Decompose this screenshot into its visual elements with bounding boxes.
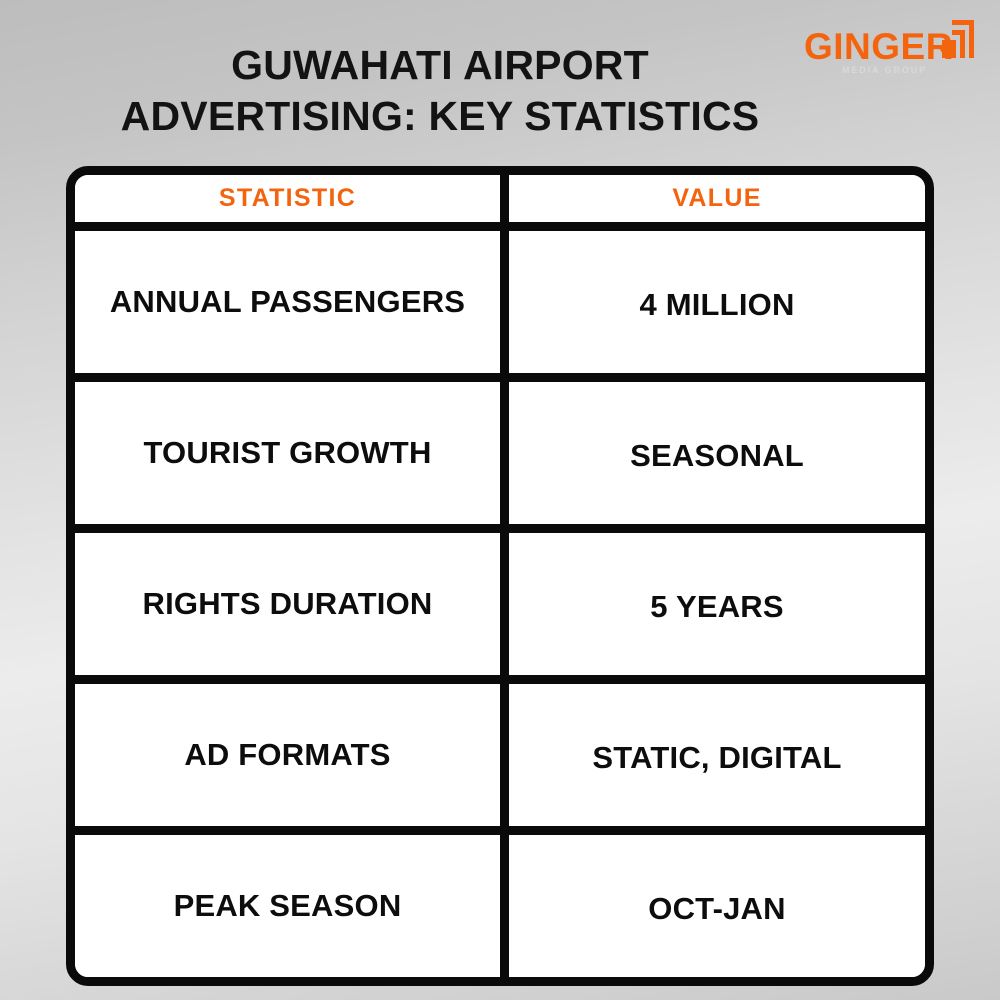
page-title-line-1: GUWAHATI AIRPORT [60, 40, 820, 91]
table-row: TOURIST GROWTH SEASONAL [75, 382, 925, 533]
column-header-value: VALUE [509, 175, 925, 222]
table-row: ANNUAL PASSENGERS 4 MILLION [75, 231, 925, 382]
row-value-ad-formats: STATIC, DIGITAL [509, 684, 925, 826]
row-label-ad-formats: AD FORMATS [75, 684, 509, 826]
table-row: AD FORMATS STATIC, DIGITAL [75, 684, 925, 835]
column-header-statistic: STATISTIC [75, 175, 509, 222]
nested-squares-icon [934, 18, 976, 60]
row-value-tourist-growth: SEASONAL [509, 382, 925, 524]
table-row: PEAK SEASON OCT-JAN [75, 835, 925, 977]
page-title-line-2: ADVERTISING: KEY STATISTICS [60, 91, 820, 142]
table-header-row: STATISTIC VALUE [75, 175, 925, 231]
row-value-annual-passengers: 4 MILLION [509, 231, 925, 373]
brand-logo: GINGER MEDIA GROUP [804, 18, 982, 80]
row-value-rights-duration: 5 YEARS [509, 533, 925, 675]
brand-wordmark: GINGER [804, 28, 944, 65]
row-label-rights-duration: RIGHTS DURATION [75, 533, 509, 675]
row-label-peak-season: PEAK SEASON [75, 835, 509, 977]
statistics-table: STATISTIC VALUE ANNUAL PASSENGERS 4 MILL… [66, 166, 934, 986]
brand-tagline: MEDIA GROUP [842, 66, 927, 75]
row-value-peak-season: OCT-JAN [509, 835, 925, 977]
row-label-tourist-growth: TOURIST GROWTH [75, 382, 509, 524]
row-label-annual-passengers: ANNUAL PASSENGERS [75, 231, 509, 373]
poster-canvas: GINGER MEDIA GROUP GUWAHATI AIRPORT ADVE… [0, 0, 1000, 1000]
page-title: GUWAHATI AIRPORT ADVERTISING: KEY STATIS… [60, 40, 820, 143]
table-row: RIGHTS DURATION 5 YEARS [75, 533, 925, 684]
